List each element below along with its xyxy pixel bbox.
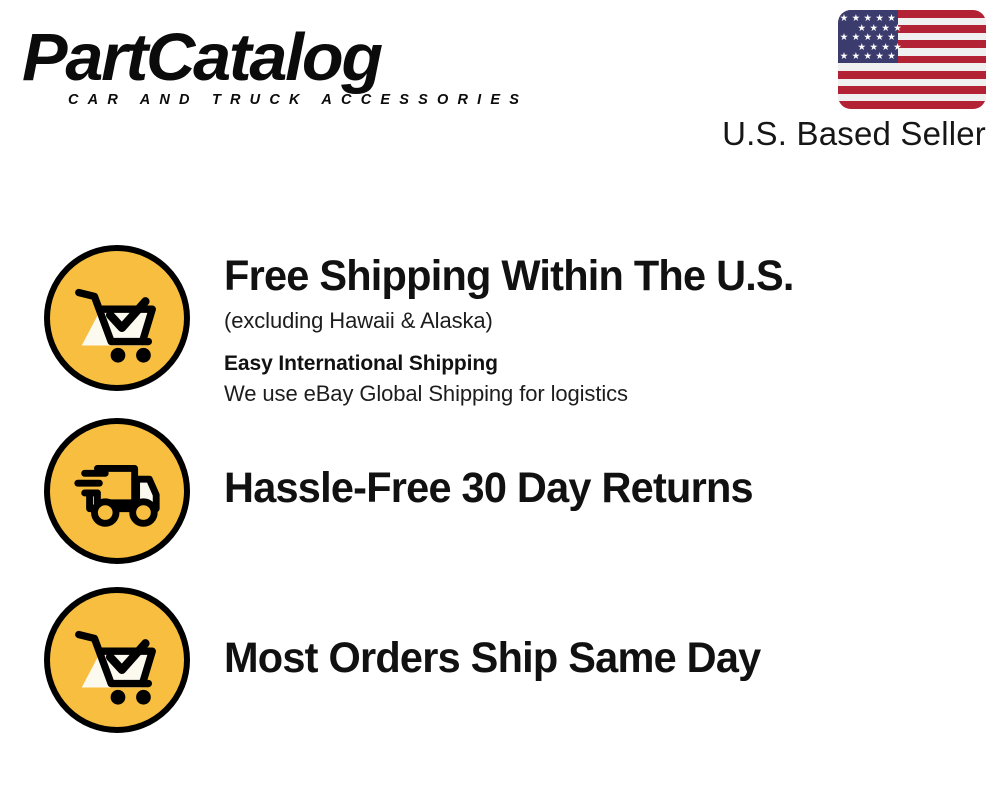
flag-stripe — [838, 79, 986, 87]
flag-stripe — [838, 94, 986, 102]
brand-tagline: CAR AND TRUCK ACCESSORIES — [68, 92, 528, 108]
us-based-seller-label: U.S. Based Seller — [722, 114, 986, 154]
brand-logo: PartCatalog CAR AND TRUCK ACCESSORIES — [22, 22, 492, 122]
delivery-truck-icon — [44, 418, 190, 564]
feature-text-block: Hassle-Free 30 Day Returns — [190, 415, 1000, 561]
flag-stripe — [838, 71, 986, 79]
feature-row: Hassle-Free 30 Day Returns — [0, 415, 1000, 570]
feature-title: Most Orders Ship Same Day — [224, 633, 760, 683]
feature-text-block: Most Orders Ship Same Day — [190, 585, 1000, 731]
feature-title: Hassle-Free 30 Day Returns — [224, 463, 753, 513]
brand-wordmark: PartCatalog — [22, 22, 381, 94]
feature-title: Free Shipping Within The U.S. — [224, 251, 973, 301]
flag-star-row: ★★★★★ — [838, 51, 898, 62]
us-flag-icon: ★★★★★ ★★★★ ★★★★★ ★★★★ ★★★★★ — [838, 10, 986, 109]
feature-text-block: Free Shipping Within The U.S. (excluding… — [190, 245, 1000, 409]
feature-note: (excluding Hawaii & Alaska) — [224, 305, 1000, 336]
flag-stripe — [838, 63, 986, 71]
feature-sub-heading: Easy International Shipping — [224, 348, 1000, 379]
feature-row: Most Orders Ship Same Day — [0, 585, 1000, 740]
feature-row: Free Shipping Within The U.S. (excluding… — [0, 245, 1000, 420]
feature-sub-text: We use eBay Global Shipping for logistic… — [224, 379, 1000, 409]
banner-header: PartCatalog CAR AND TRUCK ACCESSORIES — [0, 0, 1000, 175]
seller-banner-page: PartCatalog CAR AND TRUCK ACCESSORIES — [0, 0, 1000, 800]
shopping-cart-check-icon — [44, 587, 190, 733]
flag-stripe — [838, 86, 986, 94]
flag-canton: ★★★★★ ★★★★ ★★★★★ ★★★★ ★★★★★ — [838, 10, 898, 63]
shopping-cart-check-icon — [44, 245, 190, 391]
flag-stripe — [838, 101, 986, 109]
us-based-seller-badge: ★★★★★ ★★★★ ★★★★★ ★★★★ ★★★★★ U.S. Based S… — [838, 10, 986, 109]
